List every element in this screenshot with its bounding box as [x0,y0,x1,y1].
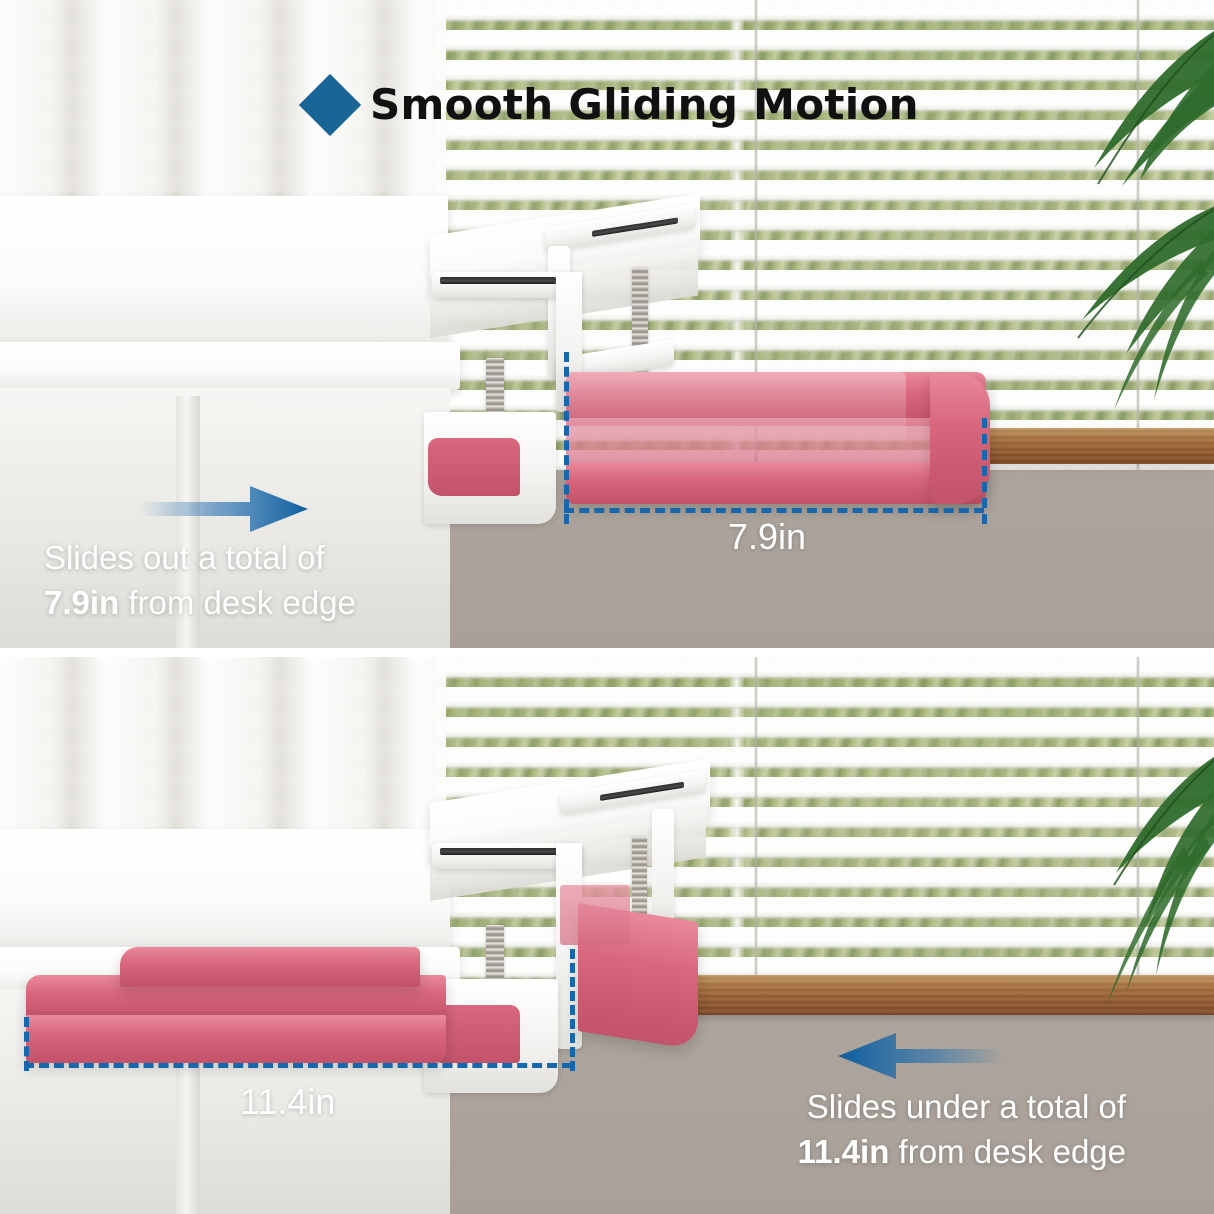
caption-line-2: 7.9in from desk edge [44,581,356,626]
measure-line-top [564,508,984,513]
desk-edge-left [0,342,460,390]
arrow-right-icon [140,482,310,536]
blind-cord-icon [1136,0,1140,470]
tray-back-riser [120,947,420,987]
caption-extended: Slides out a total of 7.9in from desk ed… [44,536,356,625]
headline-text: Smooth Gliding Motion [370,80,919,129]
caption-rest: from desk edge [119,584,356,621]
dimension-label-retracted: 11.4in [240,1081,335,1123]
tray-shadowed-section [560,885,630,945]
tray-right-cap [930,372,990,504]
caption-line-1: Slides under a total of [798,1085,1126,1130]
blue-diamond-icon [299,73,361,135]
infographic-stage: 7.9in Slides out a total of 7.9in from d… [0,0,1214,1214]
blind-cord-icon [1136,657,1140,1002]
desk-top-left [0,196,448,346]
caption-value: 11.4in [798,1133,890,1170]
panel-retracted: 11.4in Slides under a total of 11.4in fr… [0,657,1214,1214]
caption-value: 7.9in [44,584,119,621]
desk-top-left [0,829,450,951]
tray-highlight [566,372,906,442]
panel-divider [0,648,1214,657]
scene-bottom: 11.4in Slides under a total of 11.4in fr… [0,657,1214,1214]
caption-line-1: Slides out a total of [44,536,356,581]
blind-cord-icon [754,657,758,1002]
dimension-label-extended: 7.9in [728,516,806,558]
tray-front-edge [26,1015,446,1063]
windowsill-top [960,428,1214,464]
measure-tick-right-bottom [570,949,575,1071]
caption-line-2: 11.4in from desk edge [798,1130,1126,1175]
tray-front-edge [566,462,986,504]
measure-line-bottom [24,1063,572,1068]
headline: Smooth Gliding Motion [308,80,919,129]
arrow-left-icon [838,1029,1006,1083]
tray-rear-lip [428,438,520,496]
caption-rest: from desk edge [889,1133,1126,1170]
caption-retracted: Slides under a total of 11.4in from desk… [798,1085,1126,1174]
clamp-pad-front [440,277,556,284]
measure-tick-left-top [564,352,569,524]
clamp-pad-front [440,848,558,855]
